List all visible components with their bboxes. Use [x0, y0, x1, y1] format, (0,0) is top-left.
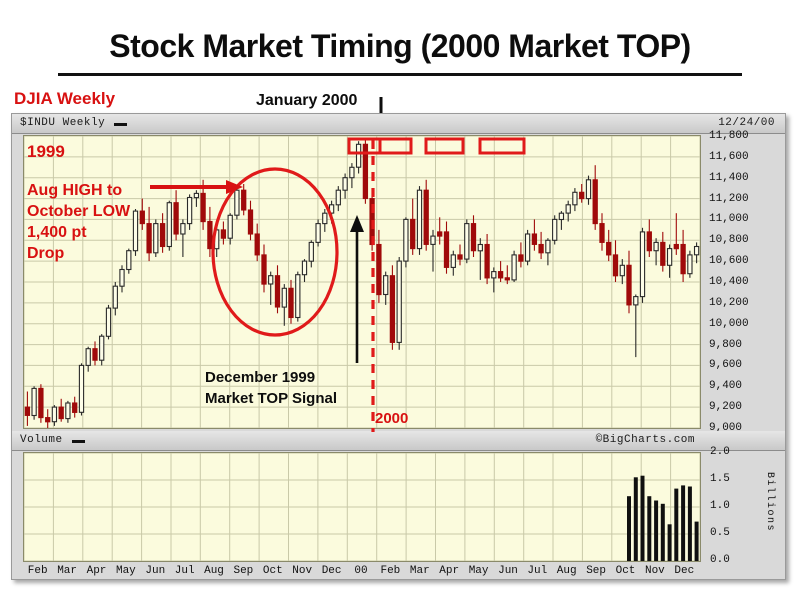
month-tick-label: Jun — [498, 565, 518, 577]
price-tick-label: 11,000 — [709, 213, 749, 225]
month-tick-label: May — [469, 565, 489, 577]
price-tick-label: 10,000 — [709, 318, 749, 330]
month-tick-label: Dec — [674, 565, 694, 577]
annotation-2000: 2000 — [375, 410, 408, 427]
symbol-label: $INDU Weekly — [20, 117, 105, 129]
annotation-1999: 1999 — [27, 142, 65, 162]
price-tick-label: 10,800 — [709, 234, 749, 246]
volume-tick-label: 0.5 — [710, 527, 730, 539]
month-tick-label: Nov — [645, 565, 665, 577]
price-tick-label: 9,200 — [709, 401, 742, 413]
volume-tick-label: 2.0 — [710, 446, 730, 458]
price-tick-label: 10,200 — [709, 297, 749, 309]
price-tick-label: 11,400 — [709, 172, 749, 184]
month-tick-label: Jul — [175, 565, 195, 577]
quote-date-label: 12/24/00 — [718, 117, 775, 129]
month-axis: FebMarAprMayJunJulAugSepOctNovDec00FebMa… — [23, 564, 701, 580]
volume-tick-label: 0.0 — [710, 554, 730, 566]
month-tick-label: Sep — [233, 565, 253, 577]
annotation-drop-line2: October LOW — [27, 201, 130, 222]
month-tick-label: Feb — [380, 565, 400, 577]
annotation-drop: Aug HIGH to October LOW 1,400 pt Drop — [27, 180, 130, 264]
month-tick-label: Aug — [204, 565, 224, 577]
series-swatch-icon — [114, 123, 127, 126]
month-tick-label: Aug — [557, 565, 577, 577]
price-tick-label: 10,400 — [709, 276, 749, 288]
price-tick-label: 9,600 — [709, 359, 742, 371]
price-tick-label: 11,800 — [709, 130, 749, 142]
month-tick-label: Feb — [28, 565, 48, 577]
month-tick-label: Oct — [616, 565, 636, 577]
volume-label: Volume — [20, 434, 63, 446]
annotation-drop-line3: 1,400 pt — [27, 222, 130, 243]
price-tick-label: 10,600 — [709, 255, 749, 267]
month-tick-label: May — [116, 565, 136, 577]
volume-panel-header: Volume ©BigCharts.com — [12, 431, 785, 451]
annotation-signal: December 1999 Market TOP Signal — [205, 367, 337, 409]
month-tick-label: Mar — [57, 565, 77, 577]
volume-bars-svg — [24, 453, 700, 561]
annotation-drop-line1: Aug HIGH to — [27, 180, 130, 201]
month-tick-label: Nov — [292, 565, 312, 577]
volume-tick-label: 1.5 — [710, 473, 730, 485]
price-tick-label: 9,400 — [709, 380, 742, 392]
billions-unit-label: Billions — [764, 472, 775, 532]
volume-tick-label: 1.0 — [710, 500, 730, 512]
month-tick-label: Apr — [439, 565, 459, 577]
bigcharts-watermark: ©BigCharts.com — [596, 434, 695, 446]
annotation-signal-line1: December 1999 — [205, 367, 337, 388]
slide-root: Stock Market Timing (2000 Market TOP) DJ… — [0, 0, 800, 600]
price-tick-label: 11,600 — [709, 151, 749, 163]
month-tick-label: Dec — [322, 565, 342, 577]
price-tick-label: 11,200 — [709, 193, 749, 205]
volume-swatch-icon — [72, 440, 85, 443]
month-tick-label: Jun — [145, 565, 165, 577]
djia-weekly-label: DJIA Weekly — [14, 89, 115, 109]
month-tick-label: Jul — [527, 565, 547, 577]
price-tick-label: 9,800 — [709, 339, 742, 351]
title-underline — [58, 73, 742, 76]
page-title: Stock Market Timing (2000 Market TOP) — [0, 28, 800, 65]
price-axis: 11,80011,60011,40011,20011,00010,80010,6… — [703, 135, 785, 431]
month-tick-label: 00 — [354, 565, 367, 577]
month-tick-label: Mar — [410, 565, 430, 577]
month-tick-label: Apr — [87, 565, 107, 577]
january-2000-callout: January 2000 — [256, 92, 357, 110]
annotation-drop-line4: Drop — [27, 243, 130, 264]
volume-plot-area — [23, 452, 701, 562]
month-tick-label: Sep — [586, 565, 606, 577]
price-panel-header: $INDU Weekly 12/24/00 — [12, 114, 785, 134]
volume-axis: Billions 2.01.51.00.50.0 — [703, 450, 785, 566]
month-tick-label: Oct — [263, 565, 283, 577]
annotation-signal-line2: Market TOP Signal — [205, 388, 337, 409]
